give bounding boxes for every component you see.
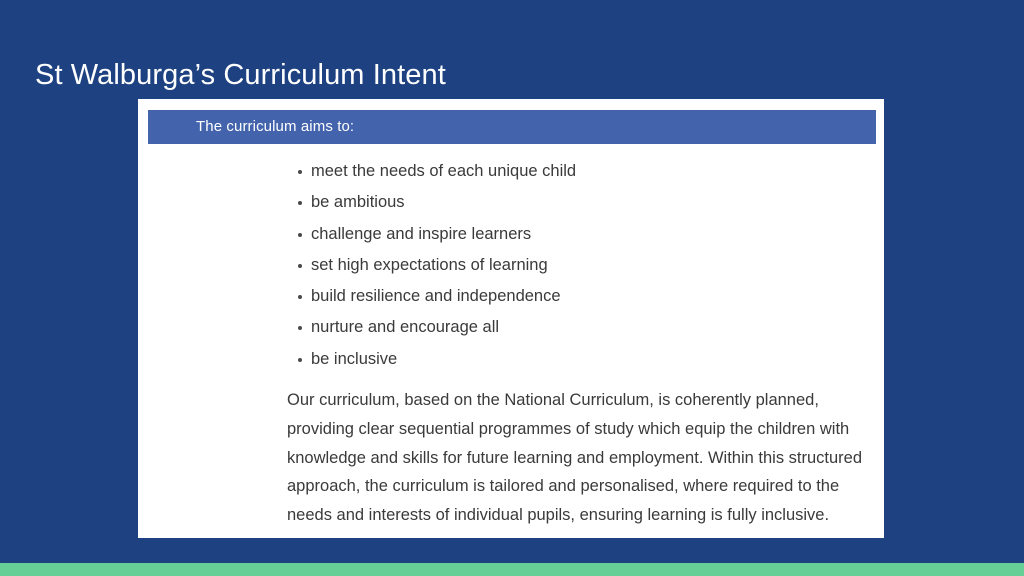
page-title: St Walburga’s Curriculum Intent	[35, 55, 935, 95]
bullet-icon	[298, 201, 302, 205]
list-item: nurture and encourage all	[138, 312, 884, 343]
bottom-accent-bar	[0, 563, 1024, 576]
bullet-icon	[298, 358, 302, 362]
paragraph-line: providing clear sequential programmes of…	[287, 415, 1007, 444]
curriculum-intent-paragraph: Our curriculum, based on the National Cu…	[287, 386, 1007, 530]
list-item: set high expectations of learning	[138, 250, 884, 281]
paragraph-line: Our curriculum, based on the National Cu…	[287, 386, 1007, 415]
paragraph-line: needs and interests of individual pupils…	[287, 501, 1007, 530]
aims-header-band: The curriculum aims to:	[148, 110, 876, 144]
list-item-label: be inclusive	[311, 350, 397, 368]
bullet-icon	[298, 264, 302, 268]
curriculum-aims-list: meet the needs of each unique child be a…	[138, 156, 884, 375]
presentation-slide: St Walburga’s Curriculum Intent The curr…	[0, 0, 1024, 576]
paragraph-line: knowledge and skills for future learning…	[287, 444, 1007, 473]
list-item-label: meet the needs of each unique child	[311, 162, 576, 180]
list-item-label: nurture and encourage all	[311, 318, 499, 336]
bullet-icon	[298, 295, 302, 299]
curriculum-intent-card: The curriculum aims to: meet the needs o…	[138, 99, 884, 538]
list-item-label: set high expectations of learning	[311, 256, 548, 274]
paragraph-line: approach, the curriculum is tailored and…	[287, 472, 1007, 501]
list-item-label: build resilience and independence	[311, 287, 561, 305]
list-item: be ambitious	[138, 187, 884, 218]
bullet-icon	[298, 326, 302, 330]
list-item: challenge and inspire learners	[138, 219, 884, 250]
aims-header-label: The curriculum aims to:	[196, 110, 354, 144]
list-item: meet the needs of each unique child	[138, 156, 884, 187]
bullet-icon	[298, 233, 302, 237]
list-item: be inclusive	[138, 344, 884, 375]
list-item-label: challenge and inspire learners	[311, 225, 531, 243]
list-item: build resilience and independence	[138, 281, 884, 312]
list-item-label: be ambitious	[311, 193, 405, 211]
bullet-icon	[298, 170, 302, 174]
